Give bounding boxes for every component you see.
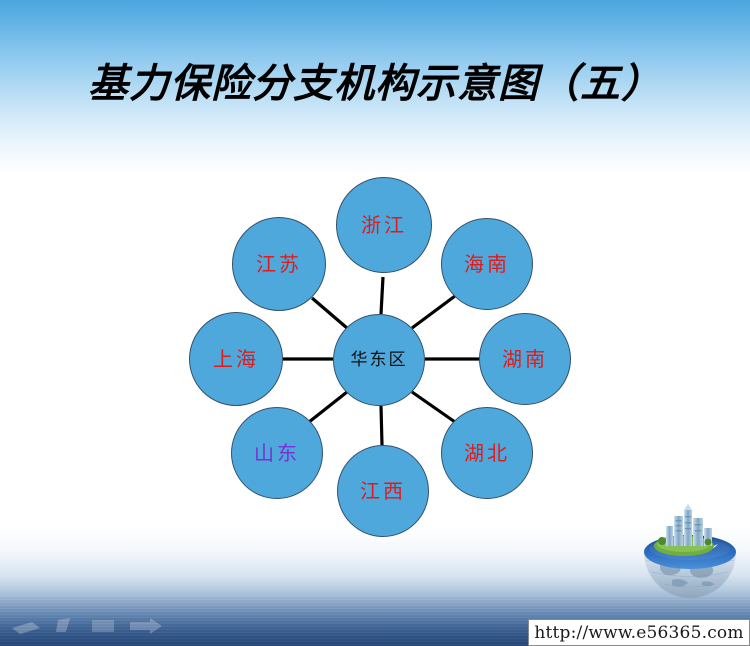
branch-node-shanghai[interactable]: 上海 — [189, 312, 283, 406]
connector-line-hainan — [412, 296, 455, 328]
hub-label-east-china-region: 华东区 — [351, 352, 408, 369]
website-url-text: http://www.e56365.com — [534, 623, 743, 643]
connector-line-jiangsu — [312, 298, 347, 328]
branch-node-hubei[interactable]: 湖北 — [441, 407, 533, 499]
branch-label-shandong: 山东 — [254, 443, 300, 463]
branch-label-jiangsu: 江苏 — [256, 254, 302, 274]
connector-line-jiangxi — [381, 406, 382, 445]
slide-canvas: 基力保险分支机构示意图（五） 江苏 浙江 海南 上海 — [0, 0, 750, 646]
branch-node-jiangsu[interactable]: 江苏 — [232, 217, 326, 311]
connector-line-hubei — [412, 392, 455, 422]
branch-label-shanghai: 上海 — [213, 349, 259, 369]
branch-node-shandong[interactable]: 山东 — [231, 407, 323, 499]
branch-node-jiangxi[interactable]: 江西 — [337, 445, 429, 537]
hub-node-east-china-region[interactable]: 华东区 — [333, 314, 425, 406]
branch-label-zhejiang: 浙江 — [361, 215, 407, 235]
branch-node-zhejiang[interactable]: 浙江 — [336, 177, 432, 273]
branch-node-hainan[interactable]: 海南 — [441, 218, 533, 310]
connector-line-shandong — [309, 392, 347, 422]
branch-label-hainan: 海南 — [464, 254, 510, 274]
branch-node-hunan[interactable]: 湖南 — [479, 313, 571, 405]
website-url-bar[interactable]: http://www.e56365.com — [528, 619, 750, 646]
globe-city-logo — [638, 500, 742, 604]
connector-line-zhejiang — [381, 277, 383, 314]
branch-label-hubei: 湖北 — [464, 443, 510, 463]
branch-label-hunan: 湖南 — [502, 349, 548, 369]
branch-label-jiangxi: 江西 — [360, 481, 406, 501]
